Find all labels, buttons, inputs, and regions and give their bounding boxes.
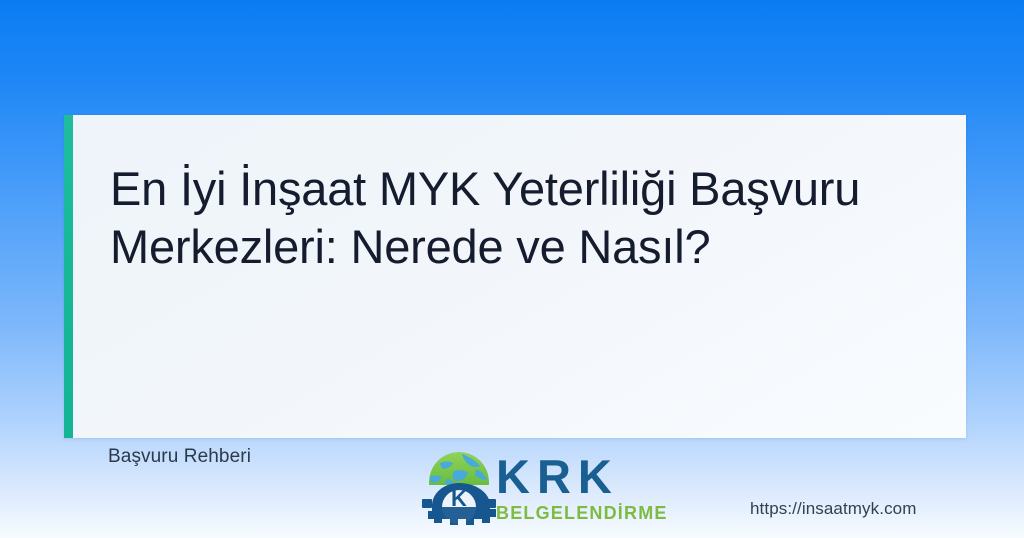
brand-logo: K KRK BELGELENDİRME: [418, 449, 668, 535]
logo-tagline: BELGELENDİRME: [496, 503, 668, 524]
page-title: En İyi İnşaat MYK Yeterliliği Başvuru Me…: [110, 160, 880, 276]
krk-globe-gear-icon: K: [418, 449, 500, 529]
accent-bar: [64, 115, 73, 438]
site-url-label: https://insaatmyk.com: [750, 498, 917, 520]
logo-wordmark: KRK BELGELENDİRME: [496, 451, 668, 533]
logo-name: KRK: [496, 451, 668, 503]
presentation-slide: En İyi İnşaat MYK Yeterliliği Başvuru Me…: [0, 0, 1024, 538]
subtitle-label: Başvuru Rehberi: [108, 445, 251, 469]
logo-mark-letter: K: [451, 486, 467, 511]
title-card: En İyi İnşaat MYK Yeterliliği Başvuru Me…: [64, 115, 966, 438]
